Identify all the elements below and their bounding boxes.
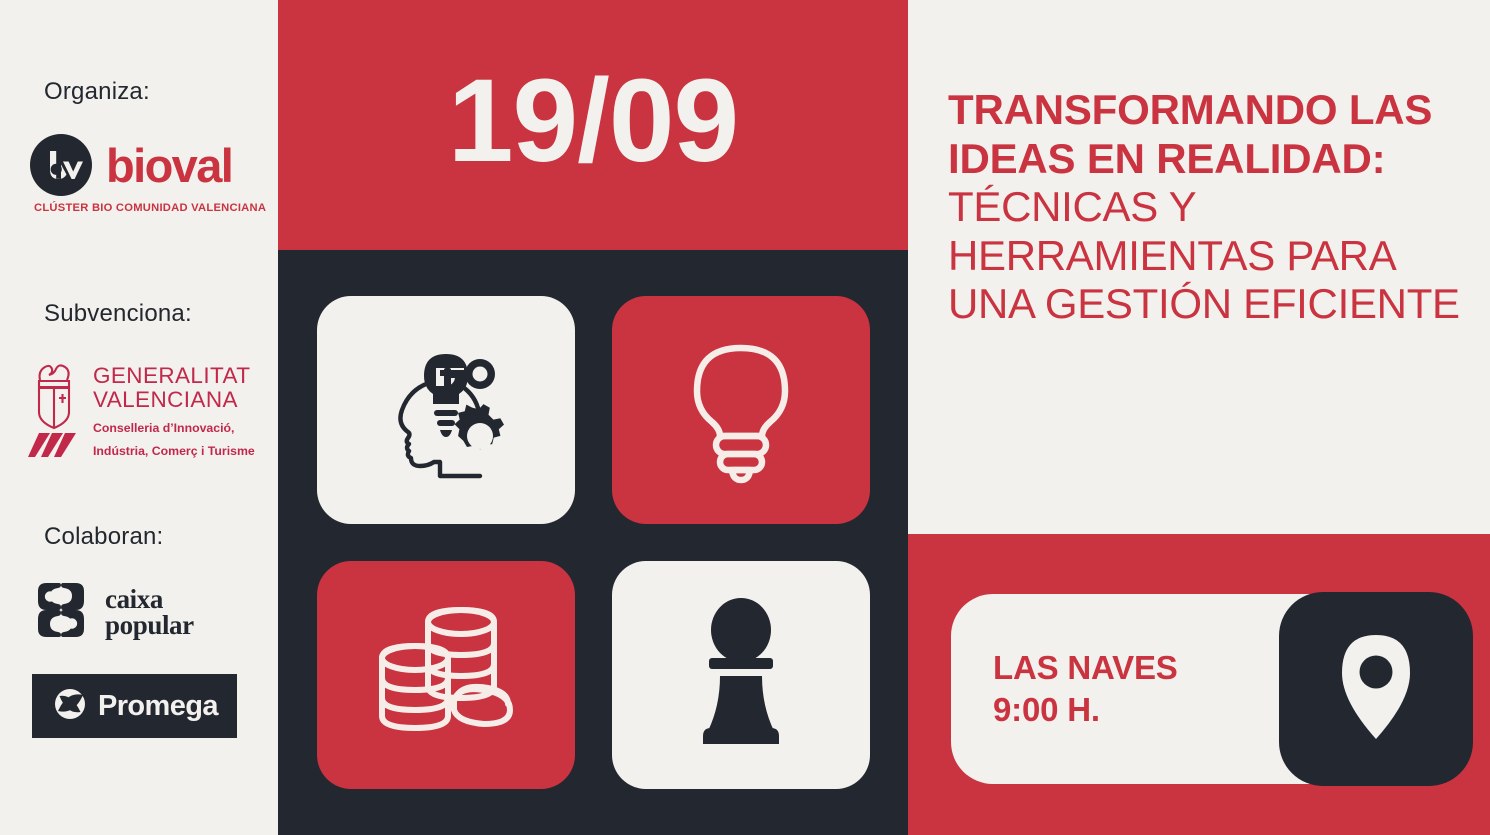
head-lightbulb-gear-icon	[370, 332, 522, 489]
venue-zone: LAS NAVES 9:00 H.	[908, 534, 1490, 835]
promega-mark-icon	[53, 687, 87, 726]
headline-bold: TRANSFORMANDO LAS IDEAS EN REALIDAD:	[948, 86, 1432, 182]
tile-chess-pawn	[612, 561, 870, 789]
venue-card: LAS NAVES 9:00 H.	[951, 594, 1471, 784]
sponsor-group-subvenciona: Subvenciona:	[0, 300, 278, 469]
headline-light: TÉCNICAS Y HERRAMIENTAS PARA UNA GESTIÓN…	[948, 183, 1460, 327]
event-date-banner: 19/09	[278, 0, 908, 250]
sponsor-group-colaboran: Colaboran: caixa popular	[0, 523, 278, 738]
sponsor-label-colaboran: Colaboran:	[0, 523, 278, 551]
bioval-logo: bioval CLÚSTER BIO COMUNIDAD VALENCIANA	[0, 134, 278, 214]
gva-text-block: GENERALITAT VALENCIANA Conselleria d’Inn…	[93, 358, 255, 459]
gva-department-line2: Indústria, Comerç i Turisme	[93, 443, 255, 459]
caixa-popular-logo: caixa popular	[0, 579, 278, 646]
sponsor-group-organiza: Organiza: bioval CLÚSTER BIO COMUNIDAD V…	[0, 78, 278, 214]
sponsor-label-subvenciona: Subvenciona:	[0, 300, 278, 328]
event-date: 19/09	[448, 62, 738, 180]
promega-logo: Promega	[32, 674, 237, 738]
tile-coins-stack	[317, 561, 575, 789]
bioval-mark-icon	[30, 134, 92, 196]
location-pin-icon	[1330, 629, 1422, 750]
gva-department-line1: Conselleria d’Innovació,	[93, 420, 255, 436]
icon-tile-grid	[278, 250, 908, 835]
gva-name-line1: GENERALITAT	[93, 364, 255, 388]
chess-pawn-icon	[681, 598, 801, 753]
venue-text: LAS NAVES 9:00 H.	[951, 647, 1178, 731]
center-column: 19/09	[278, 0, 908, 835]
page-title: TRANSFORMANDO LAS IDEAS EN REALIDAD: TÉC…	[948, 86, 1470, 329]
caixa-popular-mark-icon	[30, 579, 92, 646]
promega-wordmark: Promega	[98, 690, 218, 723]
bioval-tagline: CLÚSTER BIO COMUNIDAD VALENCIANA	[30, 202, 278, 214]
tile-lightbulb	[612, 296, 870, 524]
bioval-wordmark: bioval	[106, 142, 232, 189]
right-column: TRANSFORMANDO LAS IDEAS EN REALIDAD: TÉC…	[908, 0, 1490, 835]
sponsor-label-organiza: Organiza:	[0, 78, 278, 106]
location-pin-badge	[1279, 592, 1473, 786]
generalitat-valenciana-logo: GENERALITAT VALENCIANA Conselleria d’Inn…	[0, 358, 278, 469]
tile-head-lightbulb-gear	[317, 296, 575, 524]
caixa-word-line2: popular	[105, 613, 194, 639]
venue-time: 9:00 H.	[993, 689, 1178, 731]
caixa-word-line1: caixa	[105, 587, 194, 613]
gva-shield-icon	[26, 360, 82, 469]
lightbulb-icon	[676, 332, 806, 489]
headline-zone: TRANSFORMANDO LAS IDEAS EN REALIDAD: TÉC…	[908, 0, 1490, 534]
event-poster: Organiza: bioval CLÚSTER BIO COMUNIDAD V…	[0, 0, 1490, 835]
venue-place: LAS NAVES	[993, 647, 1178, 689]
caixa-popular-wordmark: caixa popular	[105, 587, 194, 639]
gva-name-line2: VALENCIANA	[93, 388, 255, 412]
sponsors-sidebar: Organiza: bioval CLÚSTER BIO COMUNIDAD V…	[0, 0, 278, 835]
coins-stack-icon	[366, 598, 526, 753]
